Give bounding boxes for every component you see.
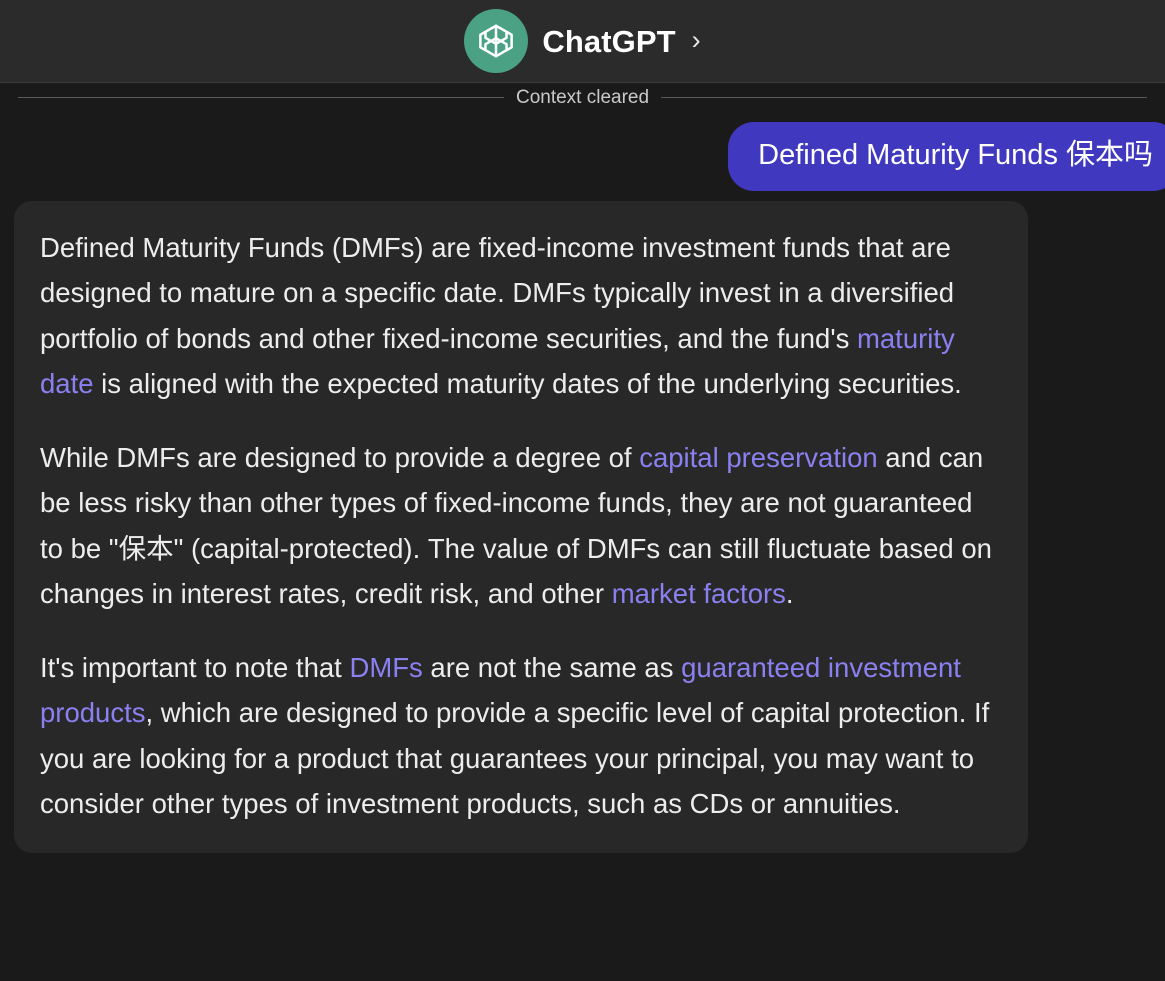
link-capital-preservation[interactable]: capital preservation [639, 442, 877, 473]
divider-rule-right [661, 97, 1147, 98]
paragraph-1-text-part-1: Defined Maturity Funds (DMFs) are fixed-… [40, 232, 954, 354]
openai-logo-icon [464, 9, 528, 73]
context-cleared-label: Context cleared [504, 88, 661, 107]
paragraph-1-text-part-2: is aligned with the expected maturity da… [94, 368, 962, 399]
assistant-message-row: Defined Maturity Funds (DMFs) are fixed-… [0, 201, 1165, 853]
assistant-paragraph-1: Defined Maturity Funds (DMFs) are fixed-… [40, 225, 994, 407]
user-message-row: Defined Maturity Funds 保本吗 [0, 122, 1165, 191]
assistant-paragraph-2: While DMFs are designed to provide a deg… [40, 435, 994, 617]
user-message-bubble[interactable]: Defined Maturity Funds 保本吗 [728, 122, 1165, 191]
paragraph-3-text-part-1: It's important to note that [40, 652, 349, 683]
paragraph-2-text-part-1: While DMFs are designed to provide a deg… [40, 442, 639, 473]
assistant-message-card[interactable]: Defined Maturity Funds (DMFs) are fixed-… [14, 201, 1028, 853]
page-title: ChatGPT [542, 26, 675, 57]
app-header: ChatGPT › [0, 0, 1165, 83]
paragraph-3-text-part-3: , which are designed to provide a specif… [40, 697, 989, 819]
paragraph-3-text-part-2: are not the same as [423, 652, 681, 683]
paragraph-2-text-part-3: . [786, 578, 794, 609]
link-market-factors[interactable]: market factors [612, 578, 786, 609]
conversation-list: Defined Maturity Funds 保本吗 Defined Matur… [0, 122, 1165, 853]
divider-rule-left [18, 97, 504, 98]
link-dmfs[interactable]: DMFs [349, 652, 422, 683]
brand-button[interactable]: ChatGPT › [464, 9, 700, 73]
context-cleared-divider: Context cleared [0, 82, 1165, 112]
assistant-paragraph-3: It's important to note that DMFs are not… [40, 645, 994, 827]
chevron-right-icon[interactable]: › [692, 27, 701, 54]
